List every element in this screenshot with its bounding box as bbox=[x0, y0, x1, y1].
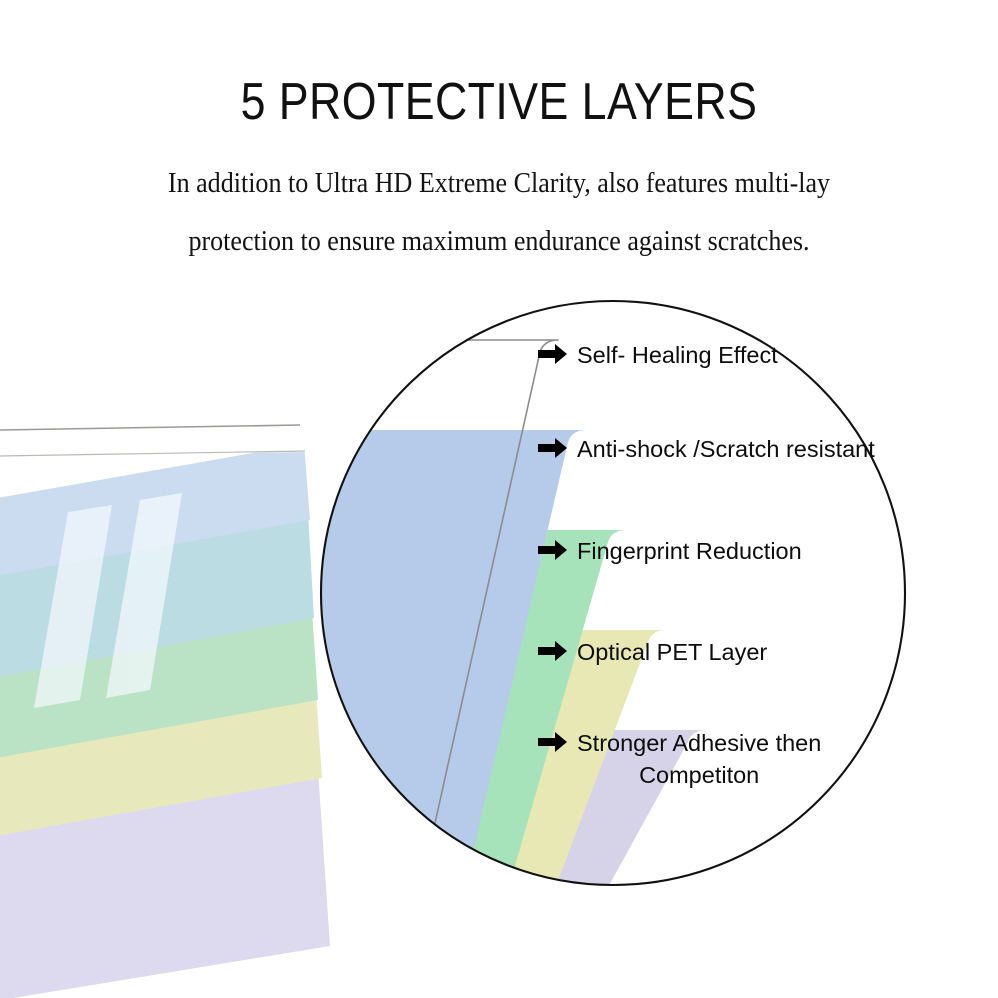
layer-stack-illustration bbox=[0, 0, 998, 998]
callout-label: Self- Healing Effect bbox=[577, 339, 778, 371]
right-arrow-icon bbox=[538, 537, 568, 563]
callout-label-line-2: Competiton bbox=[577, 759, 821, 791]
callout-label-line-1: Fingerprint Reduction bbox=[577, 538, 802, 564]
callout-label-line-1: Anti-shock /Scratch resistant bbox=[577, 436, 875, 462]
callout-label: Anti-shock /Scratch resistant bbox=[577, 433, 875, 465]
right-arrow-icon bbox=[538, 435, 568, 461]
right-arrow-icon bbox=[538, 729, 568, 755]
callout-fingerprint: Fingerprint Reduction bbox=[538, 535, 802, 567]
callout-label-line-1: Stronger Adhesive then bbox=[577, 730, 821, 756]
right-arrow-icon bbox=[538, 638, 568, 664]
infographic-canvas: 5 PROTECTIVE LAYERS In addition to Ultra… bbox=[0, 0, 998, 998]
subtitle-line-1: In addition to Ultra HD Extreme Clarity,… bbox=[91, 155, 908, 213]
callout-label: Fingerprint Reduction bbox=[577, 535, 802, 567]
callout-anti-shock: Anti-shock /Scratch resistant bbox=[538, 433, 875, 465]
subtitle-line-2: protection to ensure maximum endurance a… bbox=[91, 213, 908, 271]
callout-optical-pet: Optical PET Layer bbox=[538, 636, 767, 668]
page-subtitle: In addition to Ultra HD Extreme Clarity,… bbox=[91, 155, 908, 271]
page-title: 5 PROTECTIVE LAYERS bbox=[70, 74, 928, 130]
callout-label: Optical PET Layer bbox=[577, 636, 767, 668]
callout-label: Stronger Adhesive then Competiton bbox=[577, 727, 821, 791]
callout-label-line-1: Optical PET Layer bbox=[577, 639, 767, 665]
outer-layer-stack bbox=[0, 424, 330, 998]
callout-label-line-1: Self- Healing Effect bbox=[577, 342, 778, 368]
callout-self-healing: Self- Healing Effect bbox=[538, 339, 778, 371]
callout-adhesive: Stronger Adhesive then Competiton bbox=[538, 727, 821, 791]
right-arrow-icon bbox=[538, 341, 568, 367]
